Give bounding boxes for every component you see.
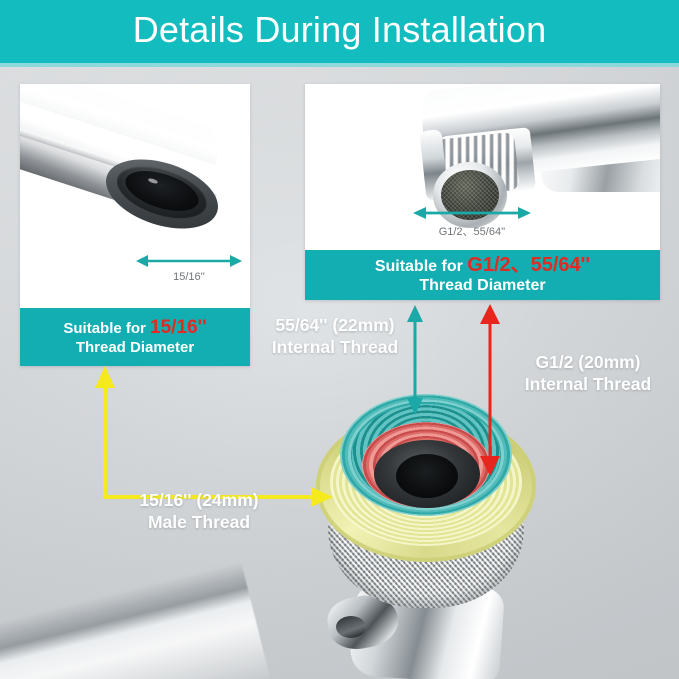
caption-right-line2: Thread Diameter: [419, 277, 545, 296]
annotation-g12-line1: G1/2 (20mm): [500, 352, 676, 374]
infographic-canvas: Details During Installation 15/16'': [0, 0, 679, 679]
caption-left-highlight: 15/16'': [150, 317, 207, 338]
caption-right-prefix: Suitable for: [375, 258, 467, 275]
dimension-arrow-icon: [413, 204, 531, 222]
header-banner: Details During Installation: [0, 0, 679, 63]
annotation-15-16-line1: 15/16'' (24mm): [104, 490, 294, 512]
faucet-pin: [336, 616, 366, 638]
header-underline: [0, 63, 679, 67]
annotation-15-16-male-thread: 15/16'' (24mm) Male Thread: [104, 490, 294, 534]
caption-left-line1: Suitable for 15/16'': [63, 317, 206, 339]
adapter-bore-hole: [396, 454, 458, 498]
dimension-arrow-icon: [136, 252, 242, 270]
caption-left-prefix: Suitable for: [63, 320, 150, 337]
annotation-55-64-line2: Internal Thread: [240, 337, 430, 359]
dimension-indicator-left: 15/16'': [136, 252, 242, 286]
annotation-g12-line2: Internal Thread: [500, 374, 676, 396]
dimension-label-left: 15/16'': [136, 271, 242, 283]
caption-left-line2: Thread Diameter: [76, 339, 194, 357]
dimension-indicator-right: G1/2、55/64'': [413, 204, 531, 238]
panel-right-caption: Suitable for G1/2、55/64'' Thread Diamete…: [305, 250, 660, 300]
annotation-g12-internal-thread: G1/2 (20mm) Internal Thread: [500, 352, 676, 396]
detail-panel-left: 15/16'' Suitable for 15/16'' Thread Diam…: [20, 84, 250, 366]
detail-panel-right: G1/2、55/64'' Suitable for G1/2、55/64'' T…: [305, 84, 660, 300]
annotation-55-64-line1: 55/64'' (22mm): [240, 315, 430, 337]
annotation-15-16-line2: Male Thread: [104, 512, 294, 534]
annotation-55-64-internal-thread: 55/64'' (22mm) Internal Thread: [240, 315, 430, 359]
panel-left-caption: Suitable for 15/16'' Thread Diameter: [20, 308, 250, 366]
panel-left-photo: 15/16'': [20, 84, 250, 308]
page-title: Details During Installation: [133, 12, 547, 51]
dimension-label-right: G1/2、55/64'': [413, 223, 531, 239]
caption-right-highlight: G1/2、55/64'': [467, 254, 590, 276]
panel-right-photo: G1/2、55/64'': [305, 84, 660, 250]
faucet-aerator-adapter: [300, 388, 550, 679]
caption-right-line1: Suitable for G1/2、55/64'': [375, 254, 590, 278]
